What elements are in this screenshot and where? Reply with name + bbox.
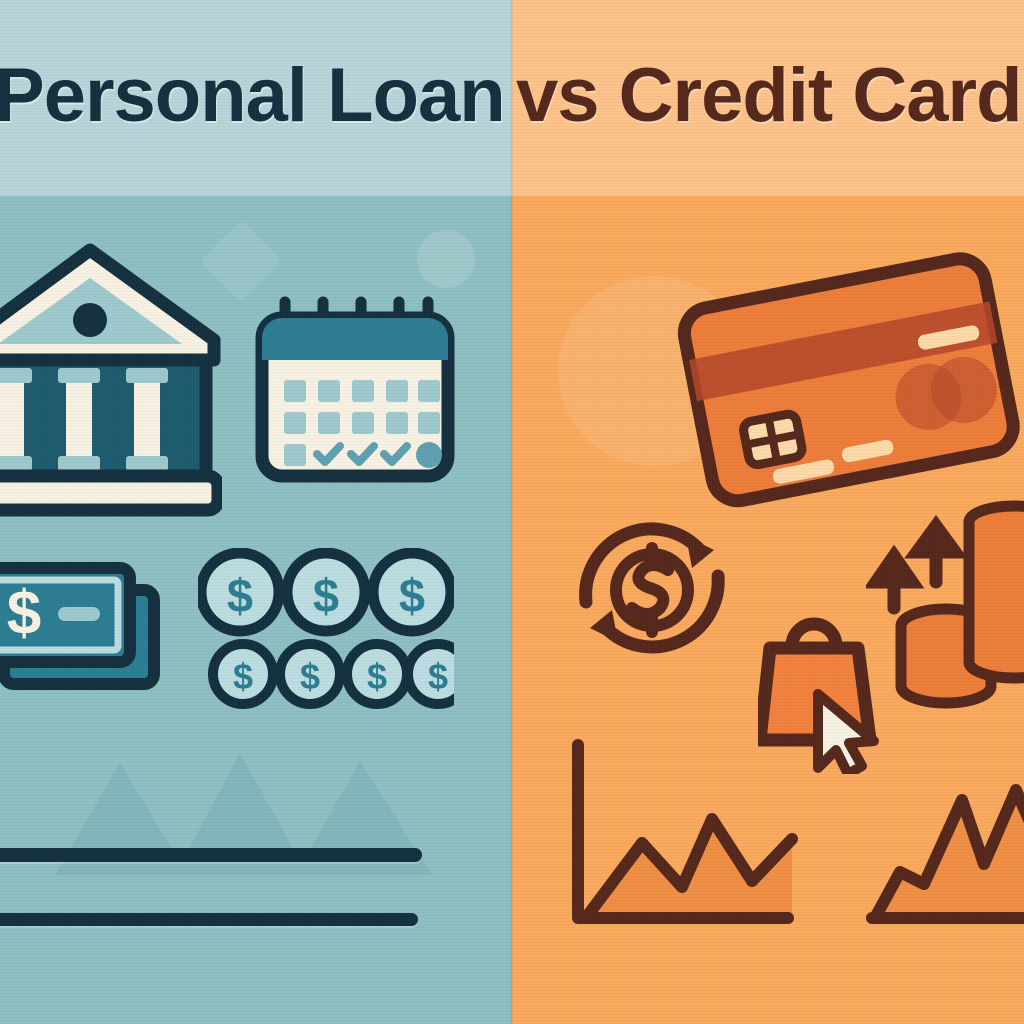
calendar-icon (254, 292, 456, 484)
panel-personal-loan: $ $ $ $ $ $ (0, 0, 512, 1024)
recurring-payment-icon (564, 506, 742, 672)
page-title-left: Personal Loan (0, 58, 505, 134)
svg-text:$: $ (233, 656, 253, 697)
bank-building-icon (0, 238, 222, 524)
line-chart-icon (560, 735, 890, 935)
svg-text:$: $ (227, 569, 253, 622)
circle-shape-icon (417, 230, 475, 288)
page-title-right: vs Credit Card (516, 58, 1022, 134)
text-placeholder-bar (0, 848, 422, 862)
line-chart-secondary-icon (866, 760, 1024, 935)
svg-text:$: $ (313, 569, 339, 622)
svg-text:$: $ (367, 656, 387, 697)
infographic-canvas: $ $ $ $ $ $ (0, 0, 1024, 1024)
credit-card-icon (672, 242, 1024, 520)
panel-credit-card (512, 0, 1024, 1024)
svg-text:$: $ (300, 656, 320, 697)
panel-divider (510, 0, 513, 1024)
coin-stacks-icon (866, 500, 1024, 718)
svg-text:$: $ (7, 579, 41, 648)
coins-icon: $ $ $ $ $ $ $ (198, 548, 454, 710)
banknote-icon: $ (0, 548, 162, 708)
text-placeholder-bar (0, 913, 418, 926)
svg-text:$: $ (428, 656, 448, 697)
svg-text:$: $ (399, 569, 425, 622)
